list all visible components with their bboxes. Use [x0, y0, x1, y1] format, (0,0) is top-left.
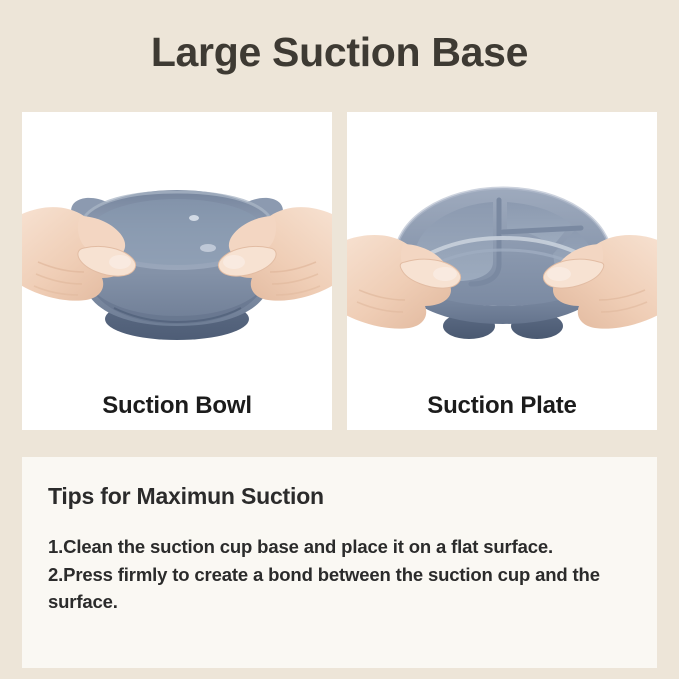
page-title: Large Suction Base	[0, 30, 679, 75]
tips-item-2: 2.Press firmly to create a bond between …	[48, 562, 629, 615]
suction-bowl-illustration	[22, 112, 332, 382]
product-panels: Suction Bowl	[22, 112, 657, 430]
tips-card: Tips for Maximun Suction 1.Clean the suc…	[22, 457, 657, 668]
panel-suction-plate: Suction Plate	[347, 112, 657, 430]
suction-plate-illustration	[347, 112, 657, 382]
tips-heading: Tips for Maximun Suction	[48, 483, 629, 510]
panel-suction-bowl: Suction Bowl	[22, 112, 332, 430]
panel-caption-suction-bowl: Suction Bowl	[22, 392, 332, 420]
tips-list: 1.Clean the suction cup base and place i…	[48, 534, 629, 615]
panel-caption-suction-plate: Suction Plate	[347, 392, 657, 420]
tips-item-1: 1.Clean the suction cup base and place i…	[48, 534, 629, 560]
